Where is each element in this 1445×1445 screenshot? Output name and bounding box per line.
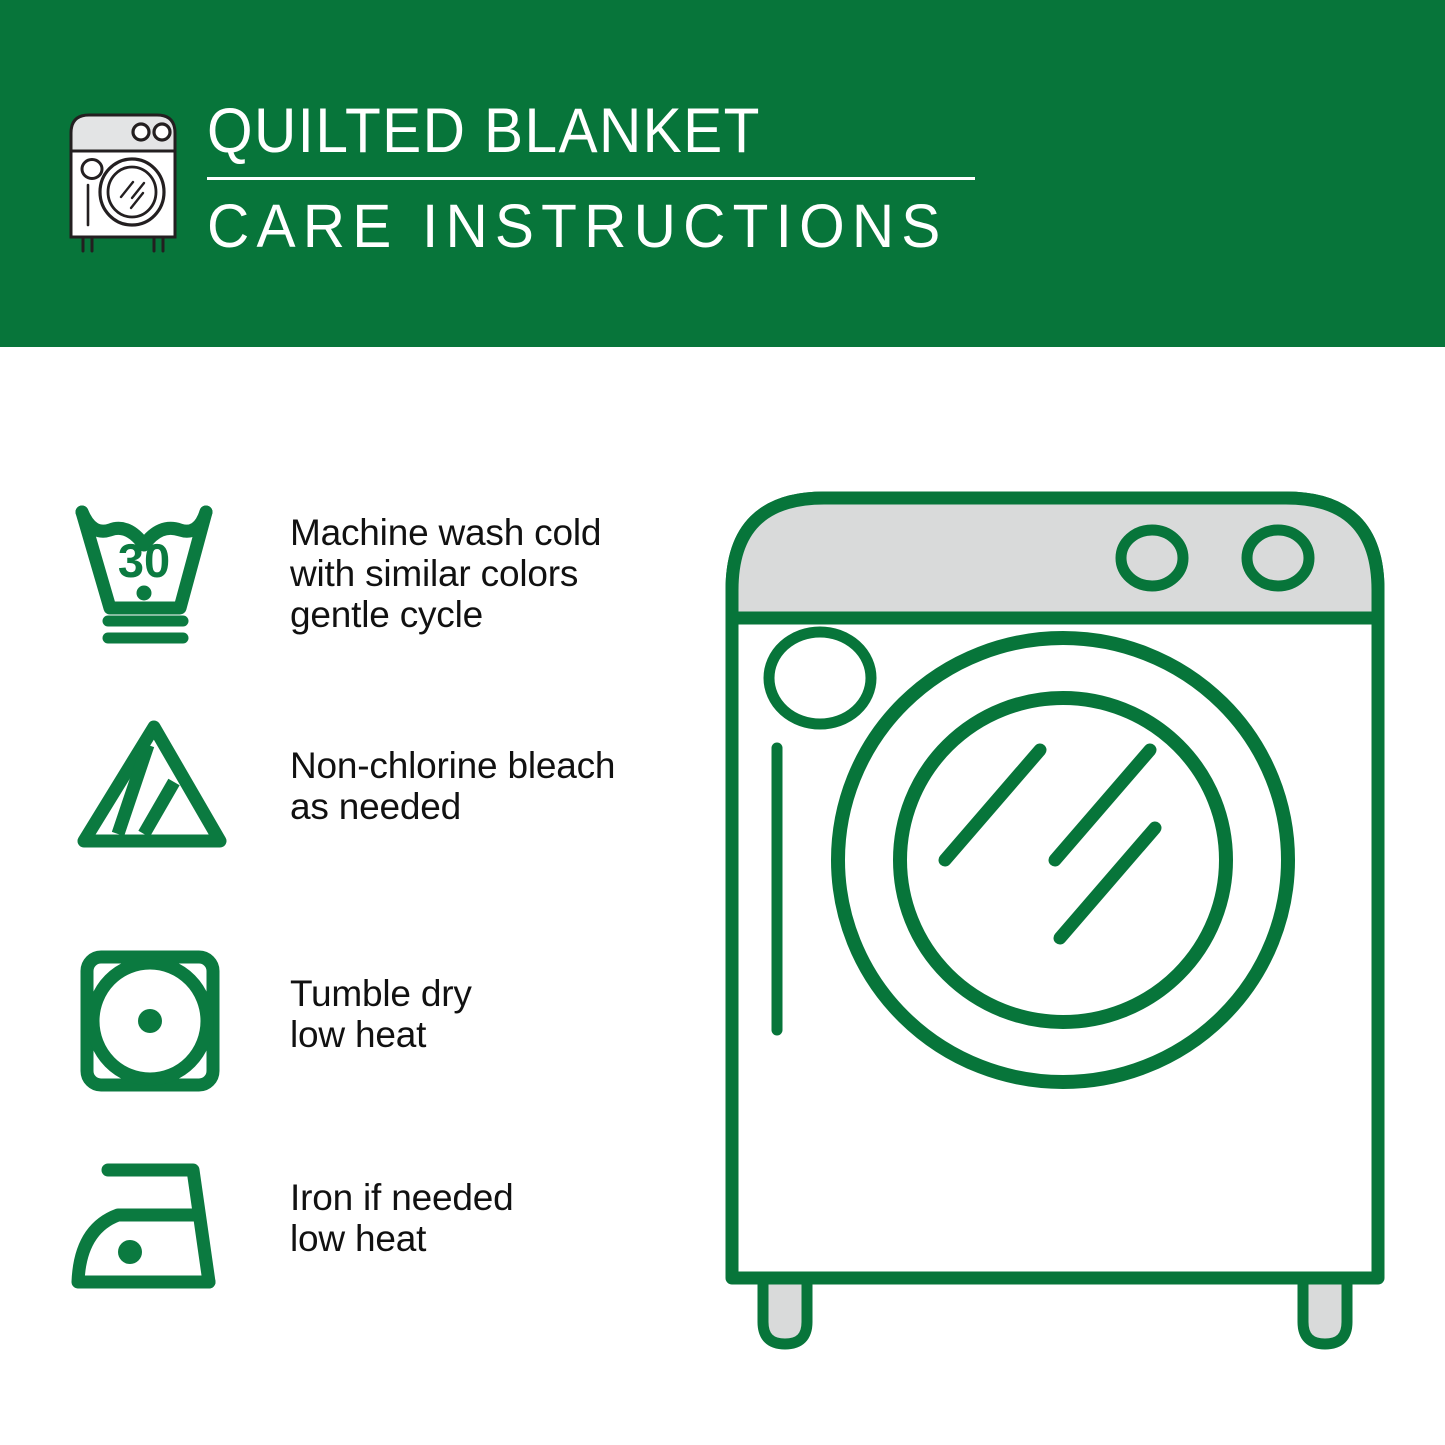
wash-tub-icon: 30 <box>70 500 230 655</box>
care-symbol-list: 30 Machine wash cold with similar colors… <box>0 0 690 1445</box>
detergent-dispenser <box>769 632 871 724</box>
care-item-label: Iron if needed low heat <box>290 1177 513 1259</box>
control-knob-right <box>1247 530 1309 586</box>
dry-heat-dot <box>138 1009 162 1033</box>
bleach-triangle-icon <box>70 715 235 860</box>
care-item-label: Tumble dry low heat <box>290 973 472 1055</box>
iron-icon <box>70 1155 240 1305</box>
control-knob-left <box>1121 530 1183 586</box>
iron-heat-dot <box>118 1240 142 1264</box>
care-instructions-infographic: QUILTED BLANKET CARE INSTRUCTIONS 30 <box>0 0 1445 1445</box>
wash-heat-dot <box>137 586 152 601</box>
care-item-label: Machine wash cold with similar colors ge… <box>290 512 601 635</box>
tumble-dry-icon <box>70 945 220 1100</box>
washing-machine-illustration <box>700 460 1400 1380</box>
wash-temperature-label: 30 <box>118 534 170 587</box>
care-item-label: Non-chlorine bleach as needed <box>290 745 615 827</box>
